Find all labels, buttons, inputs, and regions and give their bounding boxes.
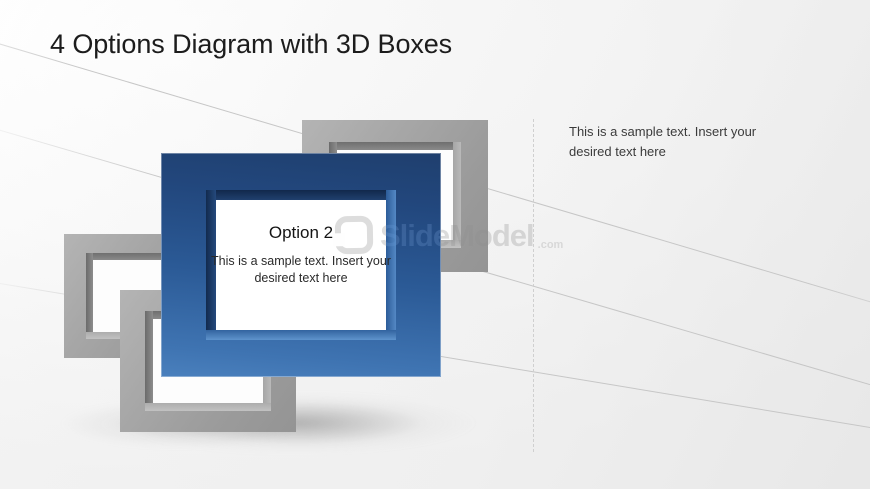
page-title: 4 Options Diagram with 3D Boxes <box>50 27 452 61</box>
option-heading: Option 2 <box>208 222 394 244</box>
slide-canvas: 4 Options Diagram with 3D Boxes <box>0 0 870 489</box>
option-body-text: This is a sample text. Insert your desir… <box>208 253 394 287</box>
blue-box-text-block: Option 2 This is a sample text. Insert y… <box>208 222 394 287</box>
side-note-text: This is a sample text. Insert your desir… <box>569 122 791 162</box>
vertical-dashed-divider <box>533 119 534 452</box>
